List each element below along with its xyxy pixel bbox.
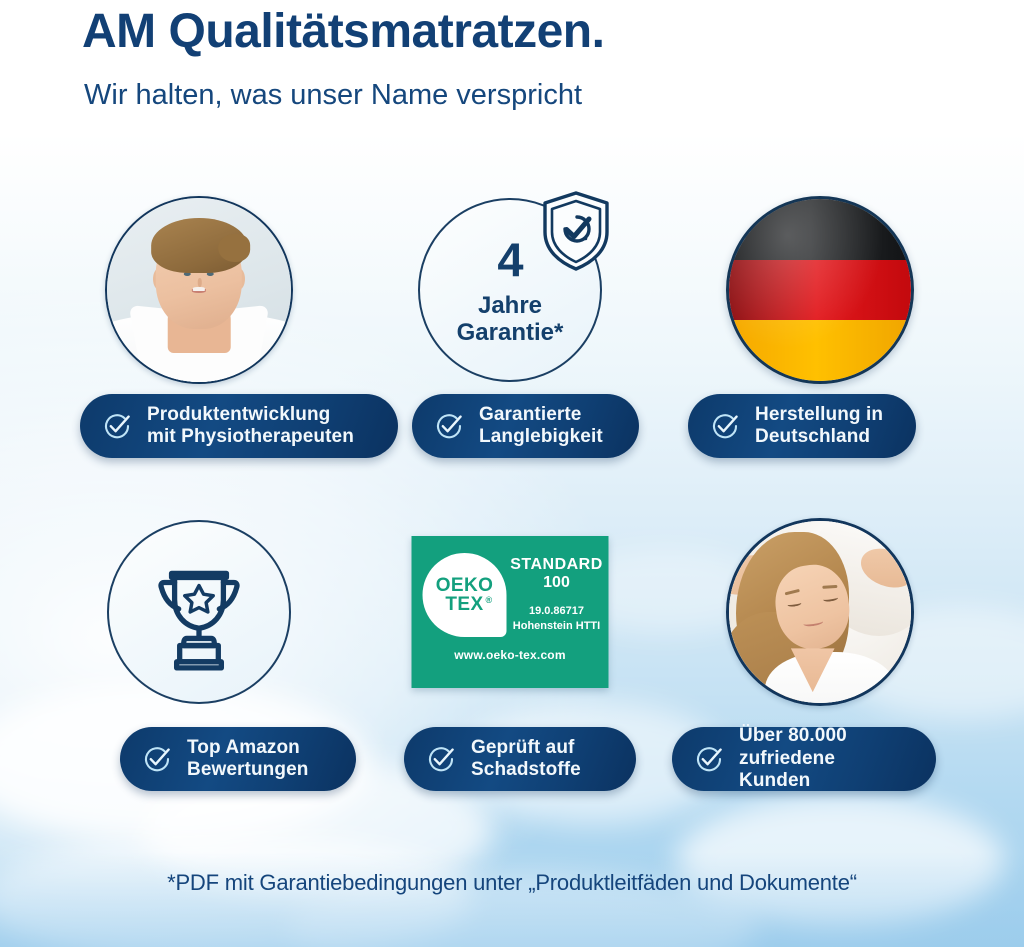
trophy-medallion	[99, 512, 299, 712]
feature-pill-label: Top Amazon Bewertungen	[187, 737, 308, 782]
feature-pill-label: Garantierte Langlebigkeit	[479, 404, 603, 449]
page-title: AM Qualitätsmatratzen.	[82, 6, 604, 58]
man-portrait-medallion	[99, 190, 299, 390]
feature-pill-schadstoffe[interactable]: Geprüft auf Schadstoffe	[404, 727, 636, 791]
oeko-tex-brand-line1: OEKO	[436, 576, 494, 595]
check-circle-icon	[140, 742, 174, 776]
guarantee-word-label: Garantie*	[457, 320, 564, 345]
feature-pill-label: Herstellung in Deutschland	[755, 404, 883, 449]
page-subtitle: Wir halten, was unser Name verspricht	[84, 78, 582, 113]
feature-cell-herstellung	[655, 190, 985, 390]
background-bottom-fade	[0, 852, 1024, 947]
trophy-icon	[99, 512, 299, 712]
guarantee-medallion: 4 Jahre Garantie*	[410, 190, 610, 390]
feature-cell-kunden	[655, 512, 985, 712]
oeko-tex-droplet-logo: OEKO TEX®	[423, 553, 507, 637]
oeko-tex-institute: Hohenstein HTTI	[508, 619, 606, 634]
oeko-tex-standard-number: 100	[508, 574, 606, 592]
footnote-text: *PDF mit Garantiebedingungen unter „Prod…	[0, 870, 1024, 896]
feature-pill-label: Über 80.000 zufriedene Kunden	[739, 725, 910, 792]
oeko-tex-url: www.oeko-tex.com	[412, 648, 609, 662]
feature-pill-produktentwicklung[interactable]: Produktentwicklung mit Physiotherapeuten	[80, 394, 398, 458]
check-circle-icon	[708, 409, 742, 443]
feature-cell-schadstoffe: OEKO TEX® STANDARD 100 19.0.86717 Hohens…	[345, 512, 675, 712]
woman-sleeping-medallion	[720, 512, 920, 712]
feature-pill-herstellung[interactable]: Herstellung in Deutschland	[688, 394, 916, 458]
oeko-tex-certificate-group: 19.0.86717 Hohenstein HTTI	[508, 604, 606, 634]
feature-cell-garantie: 4 Jahre Garantie*	[345, 190, 675, 390]
oeko-tex-standard-word: STANDARD	[508, 556, 606, 574]
oeko-tex-standard-group: STANDARD 100	[508, 556, 606, 592]
feature-pill-label: Produktentwicklung mit Physiotherapeuten	[147, 404, 354, 449]
feature-cell-amazon	[34, 512, 364, 712]
feature-cell-produktentwicklung	[34, 190, 364, 390]
feature-pill-label: Geprüft auf Schadstoffe	[471, 737, 581, 782]
oeko-tex-brand-text: TEX	[445, 594, 483, 615]
oeko-tex-medallion: OEKO TEX® STANDARD 100 19.0.86717 Hohens…	[410, 512, 610, 712]
woman-sleeping-photo	[726, 518, 914, 706]
promo-banner: AM Qualitätsmatratzen. Wir halten, was u…	[0, 0, 1024, 947]
oeko-tex-label: OEKO TEX® STANDARD 100 19.0.86717 Hohens…	[412, 536, 609, 688]
guarantee-years-label: Jahre	[478, 293, 542, 318]
registered-mark: ®	[486, 596, 493, 605]
check-circle-icon	[692, 742, 726, 776]
shield-check-icon	[536, 188, 616, 274]
guarantee-years-number: 4	[497, 235, 522, 284]
german-flag-medallion	[720, 190, 920, 390]
oeko-tex-certificate-number: 19.0.86717	[508, 604, 606, 619]
feature-pill-kunden[interactable]: Über 80.000 zufriedene Kunden	[672, 727, 936, 791]
check-circle-icon	[100, 409, 134, 443]
feature-pill-amazon[interactable]: Top Amazon Bewertungen	[120, 727, 356, 791]
oeko-tex-brand-line2: TEX®	[445, 595, 483, 614]
check-circle-icon	[432, 409, 466, 443]
check-circle-icon	[424, 742, 458, 776]
german-flag-icon	[726, 196, 914, 384]
man-portrait-photo	[105, 196, 293, 384]
feature-pill-garantie[interactable]: Garantierte Langlebigkeit	[412, 394, 639, 458]
